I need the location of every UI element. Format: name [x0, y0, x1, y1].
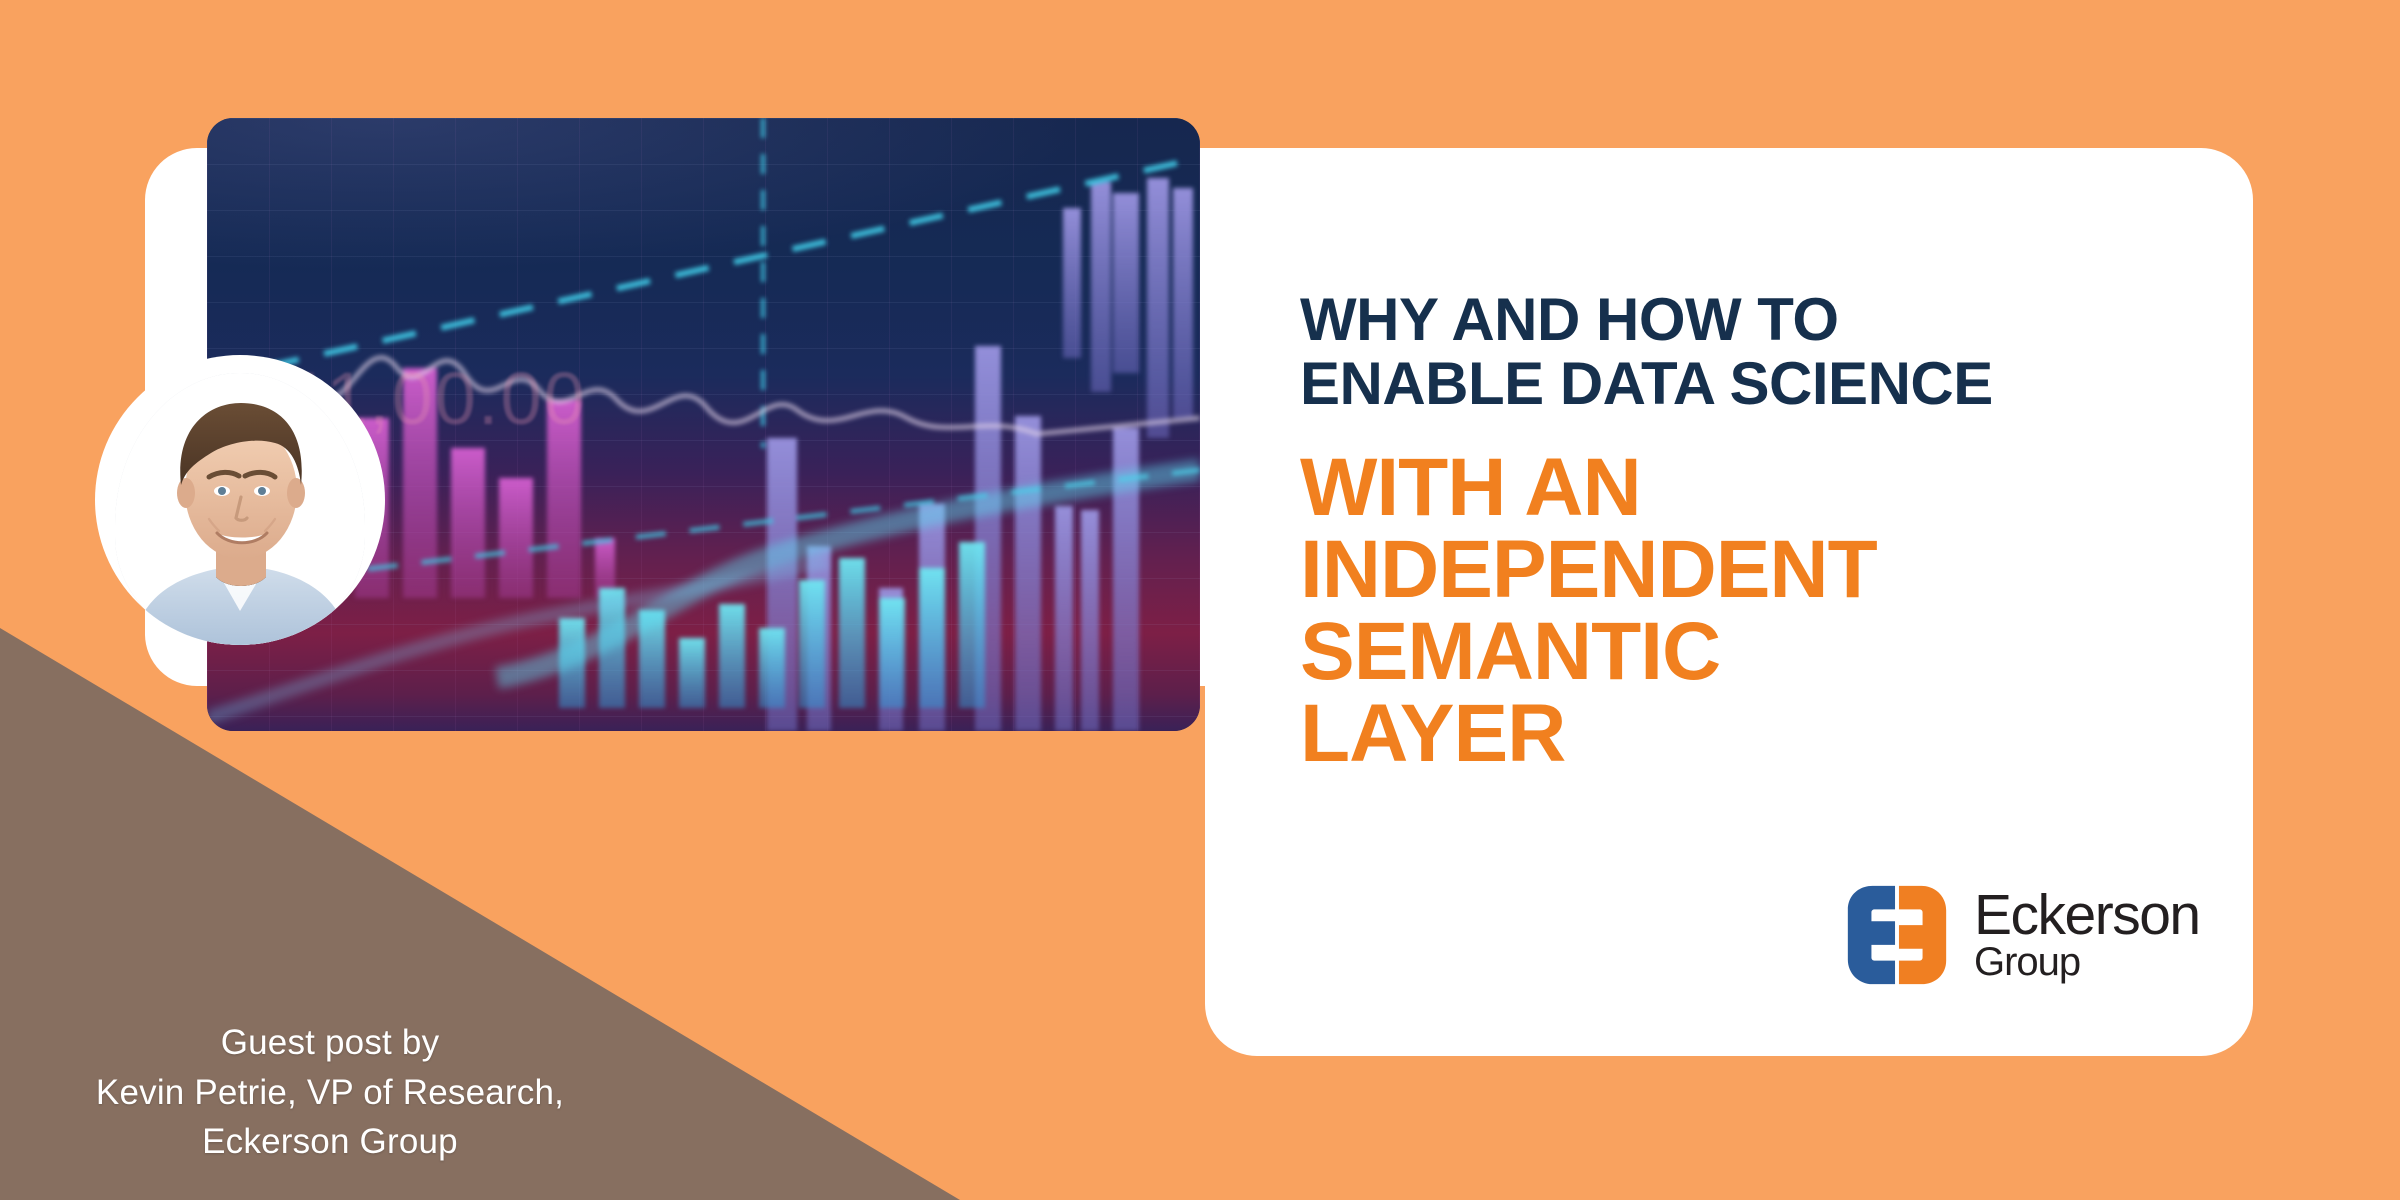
headline-orange-line-3: SEMANTIC [1300, 611, 2220, 693]
page-title: WITH AN INDEPENDENT SEMANTIC LAYER [1300, 447, 2220, 775]
headline-block: WHY AND HOW TO ENABLE DATA SCIENCE WITH … [1300, 288, 2220, 775]
chart-cyan-glow-sweep [497, 470, 1200, 678]
headline-subtitle: WHY AND HOW TO ENABLE DATA SCIENCE [1300, 288, 2220, 415]
headline-orange-line-2: INDEPENDENT [1300, 529, 2220, 611]
headline-dark-line-1: WHY AND HOW TO [1300, 288, 2220, 352]
headline-orange-line-4: LAYER [1300, 693, 2220, 775]
eckerson-group-logo: Eckerson Group [1838, 870, 2238, 1000]
avatar-photo [115, 373, 365, 645]
caption-line-3: Eckerson Group [0, 1117, 660, 1167]
headline-dark-line-2: ENABLE DATA SCIENCE [1300, 352, 2220, 416]
logo-wordmark: Eckerson Group [1974, 889, 2200, 981]
promo-banner: +11,00.00 [0, 0, 2400, 1200]
logo-division-name: Group [1974, 944, 2200, 981]
caption-line-2: Kevin Petrie, VP of Research, [0, 1068, 660, 1118]
avatar [95, 355, 385, 645]
logo-company-name: Eckerson [1974, 889, 2200, 941]
caption-line-1: Guest post by [0, 1018, 660, 1068]
headline-orange-line-1: WITH AN [1300, 447, 2220, 529]
caption-block: Guest post by Kevin Petrie, VP of Resear… [0, 1018, 660, 1167]
eckerson-logo-mark-icon [1838, 876, 1956, 994]
portrait-illustration [115, 373, 365, 645]
